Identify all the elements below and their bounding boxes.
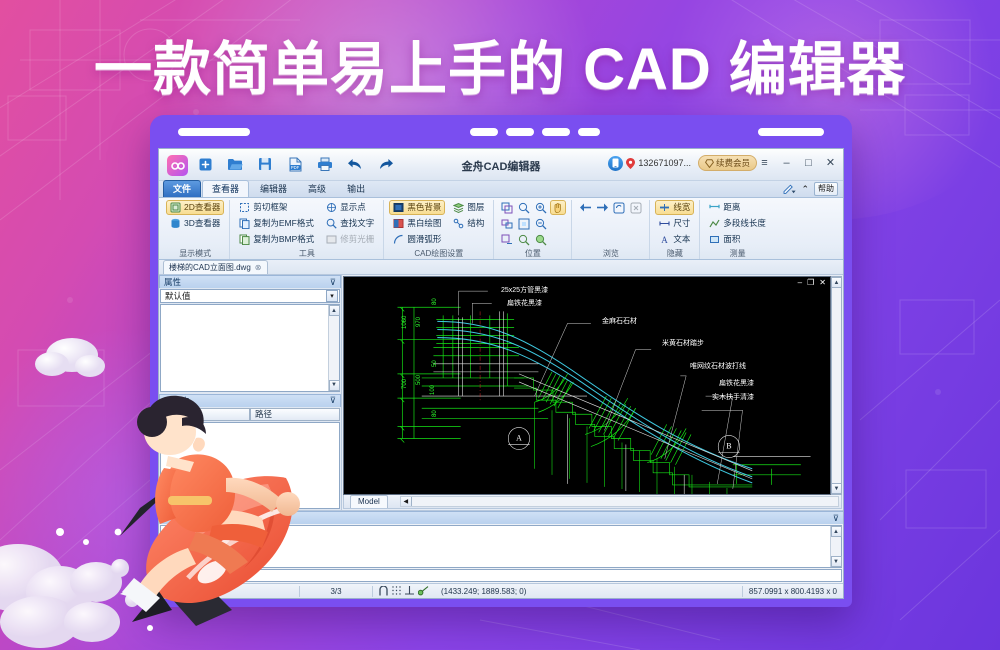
annotation-1: 扁铁花黑漆 [507, 298, 542, 308]
button-hide-dimension[interactable]: 尺寸 [655, 216, 694, 231]
bw-drawing-icon [393, 218, 404, 229]
zoom-dynamic-icon[interactable] [533, 232, 549, 247]
ribbon-group-browse-label: 浏览 [572, 248, 649, 259]
button-3d-viewer-label: 3D查看器 [184, 217, 220, 230]
button-hide-text-label: 文本 [673, 233, 690, 246]
button-structure[interactable]: 结构 [449, 216, 488, 231]
svg-text:A: A [516, 433, 522, 442]
menu-button[interactable]: ≡ [758, 156, 771, 169]
ribbon-group-measure-label: 测量 [700, 248, 775, 259]
button-bw-drawing[interactable]: 黑白绘图 [389, 216, 445, 231]
maximize-button[interactable]: □ [802, 156, 815, 169]
smooth-arcs-icon [393, 234, 404, 245]
button-show-points[interactable]: 显示点 [322, 200, 378, 215]
command-output[interactable]: ▲ ▼ [160, 525, 842, 568]
button-measure-distance-label: 距离 [723, 201, 740, 214]
button-smooth-arcs-label: 圆滑弧形 [407, 233, 441, 246]
status-snap-toggles [373, 584, 435, 599]
collapse-ribbon-icon[interactable]: ⌃ [801, 184, 809, 195]
phone-icon [608, 156, 623, 171]
annotation-0: 25x25方管黑漆 [501, 285, 548, 295]
button-smooth-arcs[interactable]: 圆滑弧形 [389, 232, 445, 247]
files-table-header: 名称 路径 [160, 408, 340, 421]
dimension-7: 80 [432, 410, 438, 417]
zoom-window-icon[interactable] [516, 200, 532, 215]
dimension-1: 970 [416, 317, 422, 327]
find-text-icon [326, 218, 337, 229]
annotation-6: 实木扶手清漆 [712, 392, 754, 402]
command-scrollbar[interactable]: ▲ ▼ [830, 526, 841, 567]
vip-label: 续费会员 [716, 157, 750, 169]
status-file-name: ...立面图.dwg [159, 584, 299, 599]
diamond-icon [705, 159, 714, 168]
button-trim-raster: 修剪光栅 [322, 232, 378, 247]
pin-icon[interactable]: ⊽ [330, 395, 336, 406]
trim-raster-icon [326, 234, 337, 245]
document-tab-strip: 楼梯的CAD立面图.dwg ⊗ [159, 260, 843, 275]
status-page-count: 3/3 [300, 584, 372, 599]
osnap-icon[interactable] [379, 586, 388, 598]
tab-editor[interactable]: 编辑器 [250, 180, 297, 197]
properties-scrollbar[interactable]: ▲ ▼ [328, 305, 339, 391]
status-coordinates: (1433.249; 1889.583; 0) [435, 584, 532, 599]
grid-icon[interactable] [392, 586, 401, 597]
ribbon-tab-strip: 文件 查看器 编辑器 高级 输出 ⌃ 帮助 [159, 181, 843, 198]
fit-screen-icon[interactable] [516, 216, 532, 231]
ribbon-group-position-label: 位置 [494, 248, 571, 259]
button-measure-area-label: 面积 [723, 233, 740, 246]
copy-bmp-icon [239, 234, 250, 245]
button-hide-text[interactable]: A 文本 [655, 232, 694, 247]
document-tab-label: 楼梯的CAD立面图.dwg [169, 262, 251, 273]
annotation-4: 唯网纹石材波打线 [690, 361, 746, 371]
chrome-pill-tab-3 [542, 128, 570, 136]
position-empty-slot-1 [550, 216, 566, 231]
button-clip-frame-label: 剪切框架 [253, 201, 287, 214]
ribbon-group-cad-settings: 黑色背景 黑白绘图 圆滑弧形 [383, 200, 493, 259]
ribbon-tab-right-controls: ⌃ 帮助 [783, 182, 838, 196]
command-panel-header: ⊽ [159, 511, 843, 524]
annotation-2: 金麻石石材 [602, 316, 637, 326]
button-hide-linewidth-label: 线宽 [673, 201, 690, 214]
pin-icon[interactable]: ⊽ [833, 513, 839, 524]
copy-emf-icon [239, 218, 250, 229]
ribbon-group-display-mode-label: 显示模式 [161, 248, 229, 259]
chrome-pill-left [178, 128, 250, 136]
cloud-small [35, 338, 105, 377]
button-measure-polyline-label: 多段线长度 [723, 217, 766, 230]
ribbon-group-tools: 剪切框架 复制为EMF格式 复制为BMP格式 [229, 200, 383, 259]
mdi-close-button[interactable]: ✕ [819, 278, 826, 287]
model-tab-bar: Model ◀ [343, 495, 842, 509]
button-structure-label: 结构 [467, 217, 484, 230]
cad-canvas[interactable]: – ❐ ✕ [343, 276, 831, 495]
position-empty-slot-2 [550, 232, 566, 247]
area-icon [709, 234, 720, 245]
svg-text:B: B [726, 441, 731, 450]
dimension-5: 80 [432, 298, 438, 305]
dimension-6: 50 [432, 360, 438, 367]
left-dock-panel: 属性 ⊽ 默认值 ▾ ▲ ▼ 文件夹 ⊽ [159, 275, 342, 510]
forward-arrow-icon[interactable] [594, 200, 610, 215]
annotation-3: 米黄石材踏步 [662, 338, 704, 348]
properties-dropdown-value: 默认值 [165, 290, 191, 302]
account-area[interactable]: 132671097... 续费会员 [608, 155, 757, 171]
exhaust-cloud [0, 544, 139, 648]
zoom-all-icon[interactable] [516, 232, 532, 247]
location-pin-icon [626, 158, 635, 169]
drawing-area: – ❐ ✕ [342, 275, 843, 510]
layers-icon [453, 202, 464, 213]
ribbon-group-hide-label: 隐藏 [650, 248, 699, 259]
ribbon-group-display-mode: 2D查看器 3D查看器 显示模式 [161, 200, 229, 259]
zoom-out-icon[interactable] [533, 216, 549, 231]
button-measure-area[interactable]: 面积 [705, 232, 770, 247]
stop-icon [628, 200, 644, 215]
button-copy-bmp-label: 复制为BMP格式 [253, 233, 314, 246]
button-find-text[interactable]: 查找文字 [322, 216, 378, 231]
scroll-down-icon[interactable]: ▼ [831, 483, 842, 494]
dimension-0: 1060 [402, 316, 408, 329]
properties-dropdown[interactable]: 默认值 ▾ [160, 289, 340, 303]
button-bw-drawing-label: 黑白绘图 [407, 217, 441, 230]
properties-list-body [161, 305, 328, 391]
svg-text:A: A [662, 235, 669, 245]
button-2d-viewer-label: 2D查看器 [184, 201, 220, 214]
button-black-background[interactable]: 黑色背景 [389, 200, 445, 215]
show-points-icon [326, 202, 337, 213]
button-layers-label: 图层 [467, 201, 484, 214]
ribbon-body: 2D查看器 3D查看器 显示模式 [159, 198, 843, 260]
document-tab[interactable]: 楼梯的CAD立面图.dwg ⊗ [163, 260, 268, 274]
button-black-background-label: 黑色背景 [407, 201, 441, 214]
scroll-up-icon[interactable]: ▲ [831, 526, 842, 537]
ribbon-group-hide: 线宽 尺寸 A 文本 [649, 200, 699, 259]
button-layers[interactable]: 图层 [449, 200, 488, 215]
scroll-down-icon[interactable]: ▼ [329, 380, 340, 391]
close-button[interactable]: ✕ [824, 156, 837, 169]
distance-icon [709, 202, 720, 213]
zoom-in-icon[interactable] [533, 200, 549, 215]
button-copy-emf[interactable]: 复制为EMF格式 [235, 216, 318, 231]
browser-mockup: PDF 金舟CAD编辑器 132671097... [150, 115, 852, 607]
dimension-3: 500 [416, 375, 422, 385]
tab-advanced[interactable]: 高级 [298, 180, 336, 197]
mockup-chrome-bar [150, 115, 852, 148]
minimize-button[interactable]: – [780, 156, 793, 169]
button-2d-viewer[interactable]: 2D查看器 [166, 200, 224, 215]
model-tab[interactable]: Model [350, 495, 388, 508]
scroll-down-icon[interactable]: ▼ [831, 556, 842, 567]
polyline-length-icon [709, 218, 720, 229]
button-show-points-label: 显示点 [340, 201, 366, 214]
zoom-extents-icon[interactable] [499, 216, 515, 231]
files-panel-title: 文件夹 [164, 395, 190, 407]
drawing-canvas-box: – ❐ ✕ [343, 276, 842, 495]
text-icon: A [659, 234, 670, 245]
account-phone: 132671097... [638, 158, 691, 168]
tab-viewer[interactable]: 查看器 [202, 180, 249, 197]
scroll-left-icon[interactable]: ◀ [401, 497, 412, 506]
ribbon-group-position: 位置 [493, 200, 571, 259]
files-table-body[interactable] [160, 422, 340, 510]
sparkles [56, 528, 153, 631]
staircase-elevation-drawing: A B [344, 277, 830, 494]
button-3d-viewer[interactable]: 3D查看器 [166, 216, 224, 231]
refresh-icon[interactable] [611, 200, 627, 215]
chrome-pill-right [758, 128, 824, 136]
linewidth-icon [659, 202, 670, 213]
back-arrow-icon[interactable] [577, 200, 593, 215]
structure-icon [453, 218, 464, 229]
button-copy-emf-label: 复制为EMF格式 [253, 217, 313, 230]
properties-list[interactable]: ▲ ▼ [160, 304, 340, 392]
page-title: 一款简单易上手的 CAD 编辑器 [0, 22, 1000, 106]
viewer-3d-icon [170, 218, 181, 229]
status-bar: ...立面图.dwg 3/3 (1433.249; 1889.583; 0) [159, 583, 843, 599]
clip-frame-icon [239, 202, 250, 213]
close-icon[interactable]: ⊗ [255, 263, 262, 272]
button-hide-dimension-label: 尺寸 [673, 217, 690, 230]
hand-icon[interactable] [550, 200, 566, 215]
button-clip-frame[interactable]: 剪切框架 [235, 200, 318, 215]
black-background-icon [393, 202, 404, 213]
ribbon-group-cad-settings-label: CAD绘图设置 [384, 248, 493, 259]
dimension-2: 700 [402, 379, 408, 389]
dimension-4: 100 [430, 385, 436, 395]
vip-renew-badge[interactable]: 续费会员 [698, 155, 757, 171]
button-hide-linewidth[interactable]: 线宽 [655, 200, 694, 215]
tab-file[interactable]: 文件 [163, 180, 201, 197]
ortho-icon[interactable] [405, 586, 414, 597]
canvas-horizontal-scrollbar[interactable]: ◀ [400, 496, 839, 507]
pen-dropdown-icon[interactable] [783, 183, 796, 196]
pin-icon[interactable]: ⊽ [330, 277, 336, 288]
files-column-path[interactable]: 路径 [250, 408, 340, 421]
mdi-restore-button[interactable]: ❐ [807, 278, 814, 287]
command-panel: ⊽ ▲ ▼ [159, 510, 843, 582]
ribbon-group-tools-label: 工具 [230, 248, 383, 259]
button-copy-bmp[interactable]: 复制为BMP格式 [235, 232, 318, 247]
workspace: 属性 ⊽ 默认值 ▾ ▲ ▼ 文件夹 ⊽ [159, 275, 843, 510]
files-column-name[interactable]: 名称 [160, 408, 250, 421]
otrack-icon[interactable] [418, 586, 429, 598]
help-button[interactable]: 帮助 [814, 182, 838, 196]
app-title-bar: PDF 金舟CAD编辑器 132671097... [159, 149, 843, 181]
button-measure-polyline[interactable]: 多段线长度 [705, 216, 770, 231]
status-extents: 857.0991 x 800.4193 x 0 [743, 584, 843, 599]
position-icon-grid [499, 200, 566, 247]
chevron-down-icon[interactable]: ▾ [326, 290, 338, 302]
scroll-up-icon[interactable]: ▲ [329, 305, 340, 316]
ribbon-group-browse: 浏览 [571, 200, 649, 259]
annotation-5: 扁铁花黑漆 [719, 378, 754, 388]
chrome-pill-tab-2 [506, 128, 534, 136]
chrome-pill-tab-4 [578, 128, 600, 136]
properties-panel-header: 属性 ⊽ [159, 275, 341, 288]
cad-application-window: PDF 金舟CAD编辑器 132671097... [158, 148, 844, 599]
canvas-vertical-scrollbar[interactable]: ▲ ▼ [831, 276, 842, 495]
button-measure-distance[interactable]: 距离 [705, 200, 770, 215]
command-input[interactable] [160, 569, 842, 582]
ribbon-group-measure: 距离 多段线长度 面积 [699, 200, 775, 259]
mdi-window-controls: – ❐ ✕ [798, 278, 826, 287]
button-trim-raster-label: 修剪光栅 [340, 233, 374, 246]
files-panel-header: 文件夹 ⊽ [159, 394, 341, 407]
button-find-text-label: 查找文字 [340, 217, 374, 230]
viewer-2d-icon [170, 202, 181, 213]
scroll-up-icon[interactable]: ▲ [831, 277, 842, 288]
zoom-previous-icon[interactable] [499, 232, 515, 247]
mdi-minimize-button[interactable]: – [798, 278, 802, 287]
dimension-icon [659, 218, 670, 229]
window-controls: ≡ – □ ✕ [758, 156, 837, 169]
chrome-pill-tab-1 [470, 128, 498, 136]
tab-output[interactable]: 输出 [337, 180, 375, 197]
pan-window-icon[interactable] [499, 200, 515, 215]
properties-panel-title: 属性 [164, 276, 181, 288]
